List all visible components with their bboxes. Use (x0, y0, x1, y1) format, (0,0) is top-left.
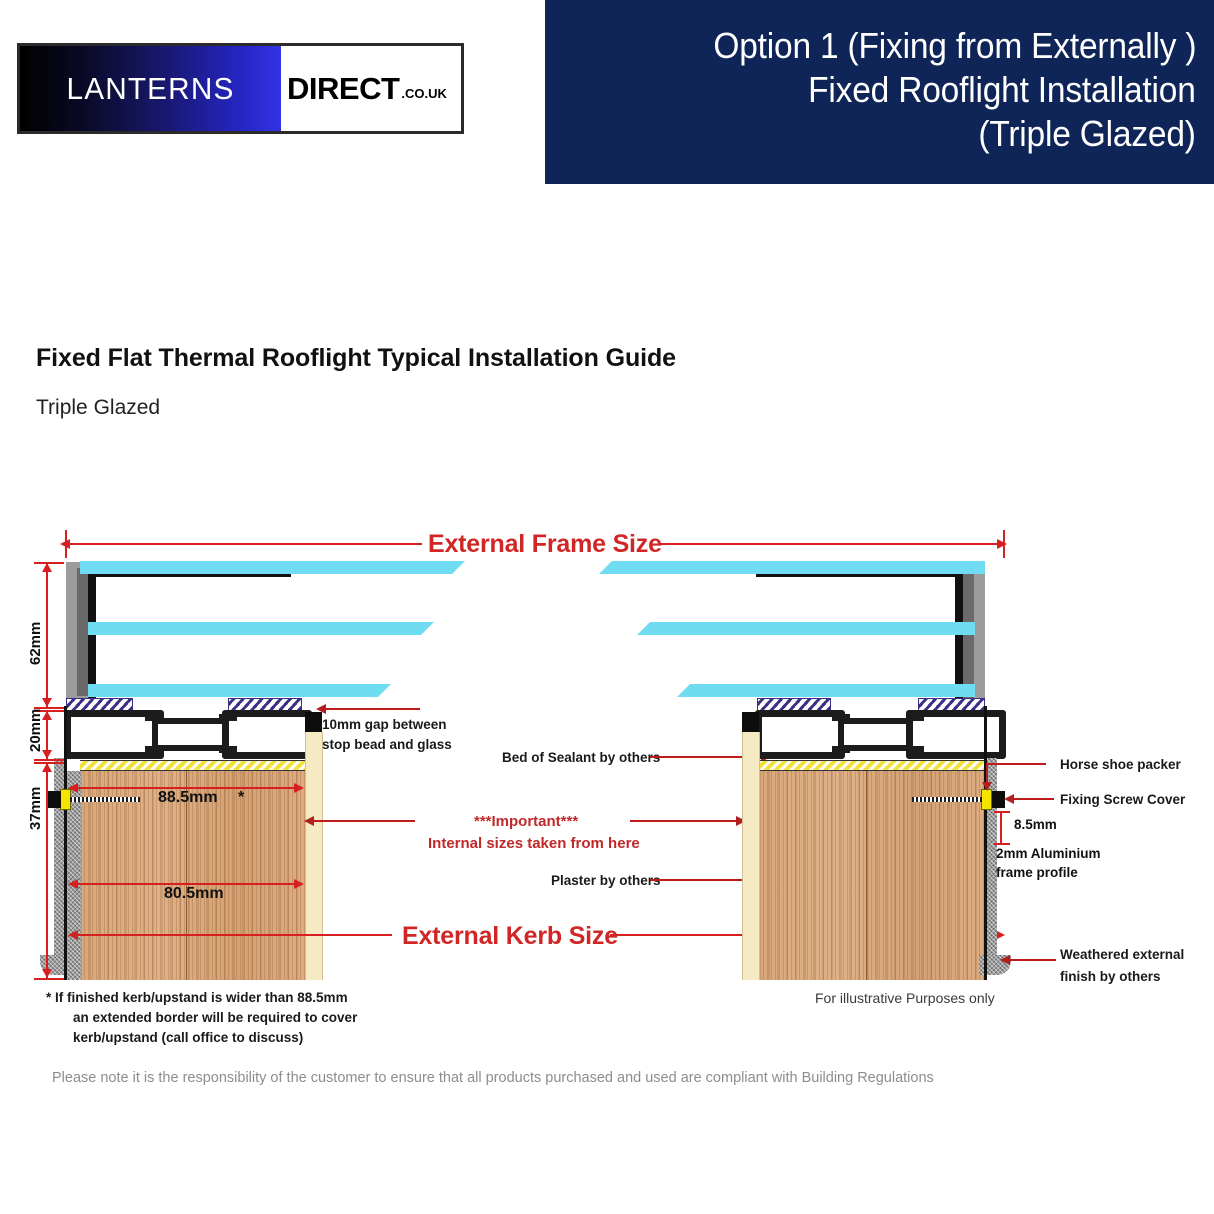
bed-of-sealant-label: Bed of Sealant by others (502, 749, 660, 767)
frame-size-tick-right (1003, 530, 1005, 558)
fixing-screw-cover-left (48, 791, 61, 808)
logo-gradient-block: LANTERNS (20, 46, 281, 131)
fixing-screw-shaft-left (70, 797, 140, 802)
weathered-finish-label-2: finish by others (1060, 968, 1161, 986)
aluminium-skirt-right (984, 706, 987, 980)
frame-connector-top-left (145, 714, 163, 721)
fixing-screw-shaft-right (912, 797, 982, 802)
installation-cross-section-diagram: External Frame Size 62mm 20 (0, 500, 1214, 1040)
fixing-screw-cover-arrow (1004, 794, 1014, 804)
kerb-size-line-left (72, 934, 392, 936)
frame-connector-bottom-left (145, 746, 163, 753)
stop-bead-right (742, 712, 759, 732)
dim-8-5-line (1000, 811, 1002, 844)
kerb-size-arrow-left (68, 930, 78, 940)
aluminium-skirt-left (64, 706, 67, 980)
horse-shoe-packer-leader (986, 763, 1046, 765)
external-frame-size-label: External Frame Size (428, 528, 662, 562)
timber-kerb-right (759, 771, 984, 980)
dim-88-arrow-right (294, 783, 304, 793)
brand-logo[interactable]: LANTERNS DIRECT .CO.UK (17, 43, 464, 134)
sealant-bed-left (80, 760, 312, 771)
frame-size-dim-line-right (660, 543, 1005, 545)
aluminium-frame-profile-label-2: frame profile (996, 864, 1078, 882)
dim-8-5mm-label: 8.5mm (1014, 816, 1057, 834)
glass-pane-middle-right (650, 622, 975, 635)
aluminium-frame-profile-label-1: 2mm Aluminium (996, 845, 1101, 863)
timber-kerb-seam-right (866, 771, 867, 980)
page-title: Fixed Flat Thermal Rooflight Typical Ins… (36, 344, 676, 373)
left-frame-upright-inner-shade (77, 568, 88, 696)
sealant-bed-right (759, 760, 991, 771)
glass-pane-middle-left (88, 622, 421, 635)
banner-line-2: Fixed Rooflight Installation (809, 68, 1196, 112)
fixing-screw-cover-leader (1012, 798, 1054, 800)
fixing-screw-cover-label: Fixing Screw Cover (1060, 791, 1185, 809)
weathered-finish-leader (1010, 959, 1056, 961)
frame-connector-top-right-right (906, 714, 924, 721)
stop-bead-gap-arrow (316, 704, 326, 714)
glass-pane-outer-left (80, 561, 452, 574)
plaster-strip-right (742, 732, 760, 980)
dim-37mm-label: 37mm (26, 787, 46, 830)
plaster-by-others-label: Plaster by others (551, 872, 661, 890)
frame-connector-bottom-right-left (219, 746, 237, 753)
important-arrow-left (304, 816, 314, 826)
illustrative-purposes-note: For illustrative Purposes only (815, 989, 995, 1008)
page-subtitle: Triple Glazed (36, 396, 160, 420)
weathered-finish-label-1: Weathered external (1060, 946, 1184, 964)
frame-size-dim-line-left (66, 543, 422, 545)
external-kerb-size-label: External Kerb Size (402, 920, 618, 954)
plaster-strip-left (305, 732, 323, 980)
frame-connector-bottom-right-right (906, 746, 924, 753)
header-banner: Option 1 (Fixing from Externally ) Fixed… (545, 0, 1214, 184)
important-line-1: ***Important*** (474, 812, 578, 832)
dim-20mm-label: 20mm (26, 709, 46, 752)
banner-line-3: (Triple Glazed) (979, 112, 1196, 156)
logo-text-block: DIRECT .CO.UK (281, 46, 461, 131)
weathered-finish-arrow (1000, 955, 1010, 965)
dim-88-5mm-label: 88.5mm (158, 787, 218, 809)
plaster-leader (650, 879, 748, 881)
stop-bead-gap-leader (322, 708, 420, 710)
important-leader-left (310, 820, 415, 822)
dim-8-5-tick-top (994, 811, 1010, 813)
kerb-footnote-line-3: kerb/upstand (call office to discuss) (73, 1029, 303, 1047)
frame-connector-bottom-left-right (832, 746, 850, 753)
dim-88-5mm-asterisk: * (238, 787, 244, 809)
dim-37-tick-bottom (34, 978, 64, 980)
stop-bead-gap-label-1: 10mm gap between (322, 716, 447, 734)
dim-62-arrow-down (42, 698, 52, 707)
compliance-footer-note: Please note it is the responsibility of … (52, 1070, 934, 1086)
dim-37-arrow-up (42, 763, 52, 772)
kerb-footnote-line-2: an extended border will be required to c… (73, 1009, 357, 1027)
horse-shoe-packer-right (981, 789, 992, 810)
dim-62mm-label: 62mm (26, 622, 46, 665)
important-leader-right (630, 820, 738, 822)
dim-37-arrow-down (42, 969, 52, 978)
dim-80-arrow-left (68, 879, 78, 889)
dim-62-arrow-up (42, 563, 52, 572)
banner-line-1: Option 1 (Fixing from Externally ) (713, 24, 1196, 68)
important-line-2: Internal sizes taken from here (428, 834, 640, 854)
horse-shoe-packer-arrow (982, 782, 992, 791)
dim-62-line (46, 562, 48, 708)
logo-word-lanterns: LANTERNS (67, 71, 235, 107)
logo-tld: .CO.UK (401, 86, 447, 101)
frame-connector-top-left-right (832, 714, 850, 721)
dim-80-arrow-right (294, 879, 304, 889)
frame-connector-top-right-left (219, 714, 237, 721)
frame-size-tick-left (65, 530, 67, 558)
frame-size-arrow-right (997, 539, 1007, 549)
stop-bead-gap-label-2: stop bead and glass (322, 736, 452, 754)
horse-shoe-packer-label: Horse shoe packer (1060, 756, 1181, 774)
dim-37-line (46, 762, 48, 979)
kerb-footnote-line-1: * If finished kerb/upstand is wider than… (46, 989, 348, 1007)
logo-word-direct: DIRECT (287, 71, 399, 107)
stop-bead-left (305, 712, 322, 732)
dim-88-arrow-left (68, 783, 78, 793)
glass-pane-inner-left (88, 684, 378, 697)
dim-20-tick-bottom (34, 759, 64, 761)
dim-80-5mm-label: 80.5mm (164, 883, 224, 905)
glass-pane-outer-right (612, 561, 985, 574)
glass-pane-inner-right (690, 684, 975, 697)
